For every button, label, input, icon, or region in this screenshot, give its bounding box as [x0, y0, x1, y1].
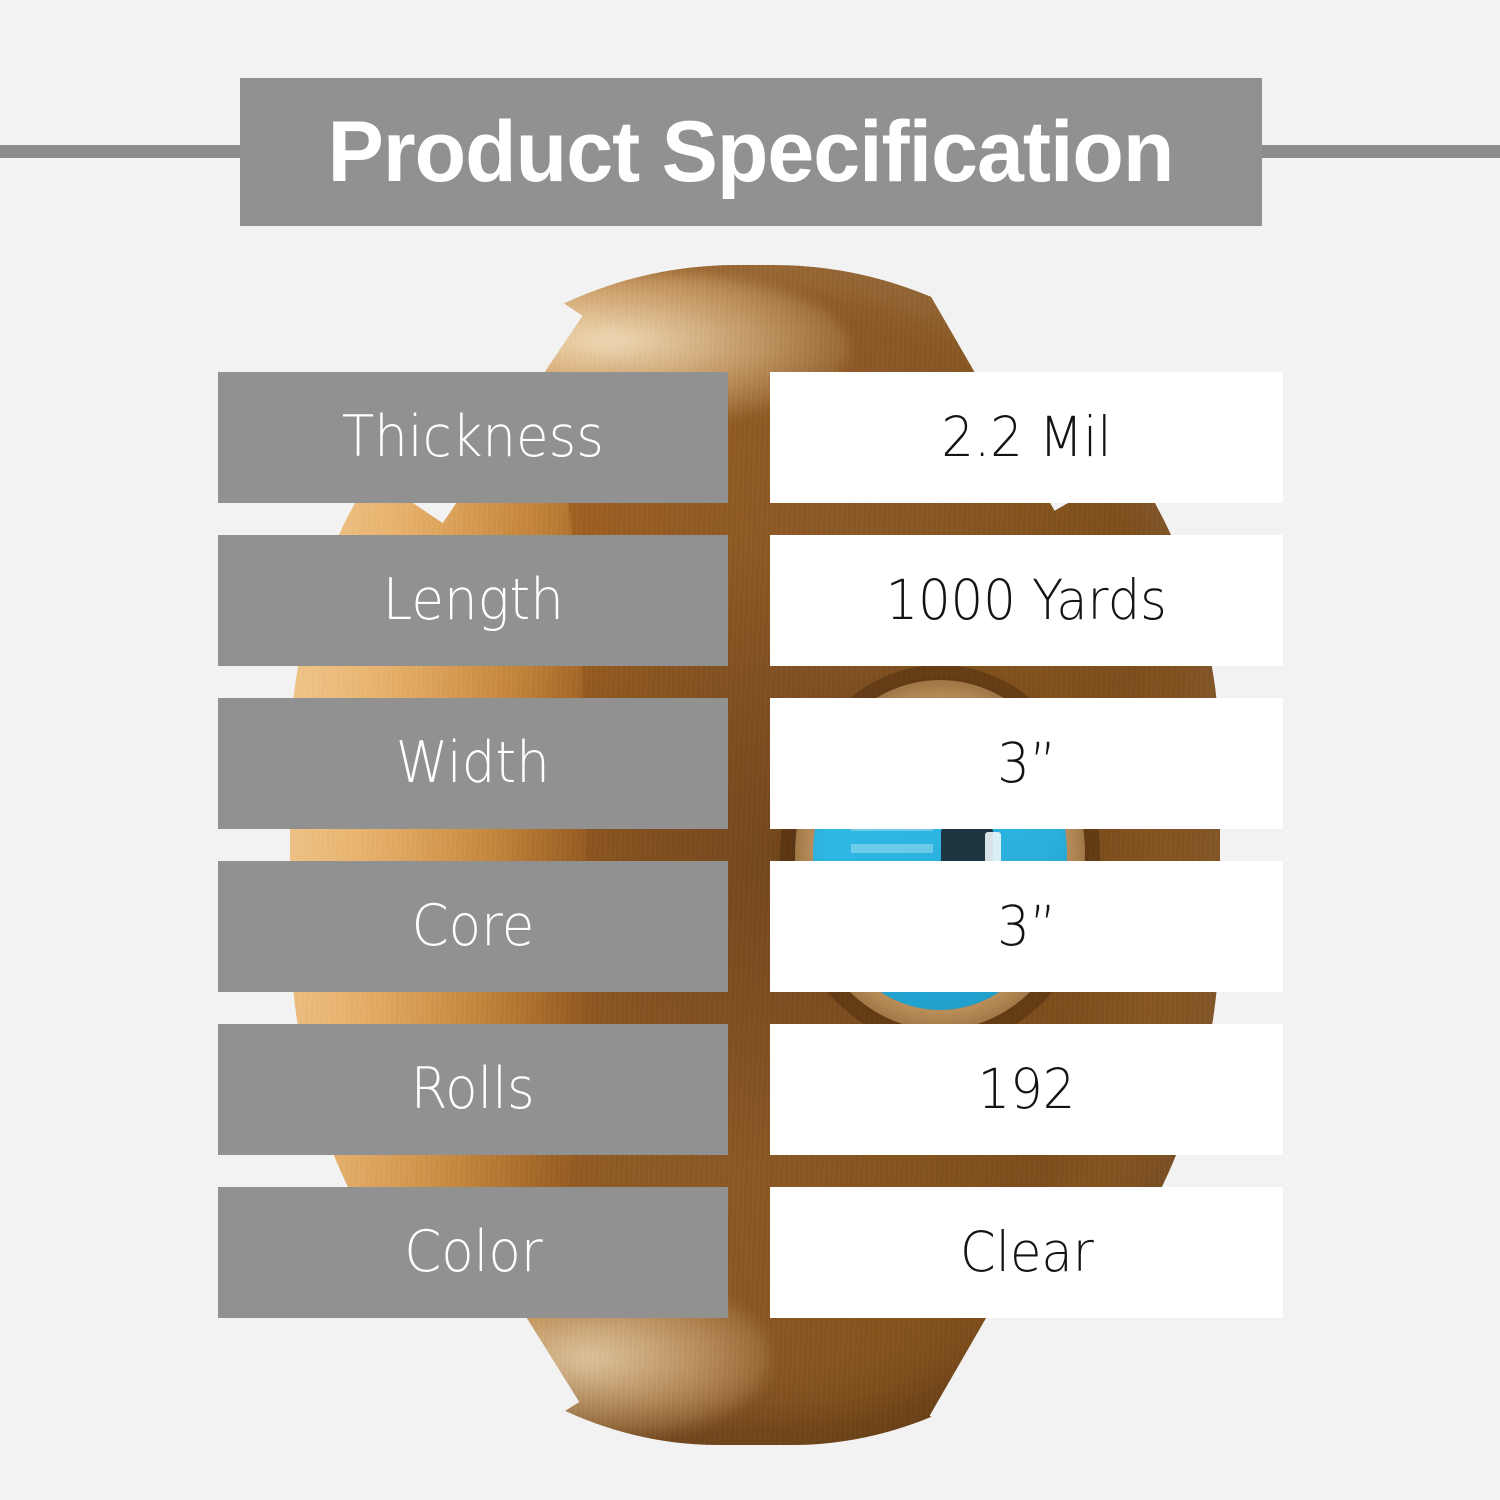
spec-value-width: 3”	[770, 698, 1283, 829]
spec-value-length: 1000 Yards	[770, 535, 1283, 666]
spec-table: Thickness 2.2 Mil Length 1000 Yards Widt…	[0, 0, 1500, 1500]
spec-label-text: Length	[382, 572, 563, 629]
spec-label-rolls: Rolls	[218, 1024, 728, 1155]
spec-label-text: Color	[404, 1224, 542, 1281]
spec-label-text: Core	[412, 898, 535, 955]
spec-label-text: Thickness	[342, 409, 604, 466]
spec-value-text: Clear	[960, 1225, 1094, 1280]
table-row: Thickness 2.2 Mil	[0, 372, 1500, 503]
spec-value-text: 1000 Yards	[886, 573, 1167, 628]
table-row: Color Clear	[0, 1187, 1500, 1318]
spec-value-text: 2.2 Mil	[941, 410, 1111, 465]
spec-value-core: 3”	[770, 861, 1283, 992]
table-row: Core 3”	[0, 861, 1500, 992]
spec-value-text: 192	[978, 1062, 1076, 1117]
spec-value-text: 3”	[997, 736, 1056, 791]
spec-label-text: Width	[396, 735, 550, 792]
spec-label-core: Core	[218, 861, 728, 992]
spec-label-thickness: Thickness	[218, 372, 728, 503]
spec-label-length: Length	[218, 535, 728, 666]
spec-value-thickness: 2.2 Mil	[770, 372, 1283, 503]
spec-label-color: Color	[218, 1187, 728, 1318]
table-row: Length 1000 Yards	[0, 535, 1500, 666]
spec-label-width: Width	[218, 698, 728, 829]
product-specification-page: Product Specification Thickness 2.2 Mil …	[0, 0, 1500, 1500]
table-row: Rolls 192	[0, 1024, 1500, 1155]
spec-value-color: Clear	[770, 1187, 1283, 1318]
table-row: Width 3”	[0, 698, 1500, 829]
spec-value-rolls: 192	[770, 1024, 1283, 1155]
spec-label-text: Rolls	[411, 1061, 535, 1118]
spec-value-text: 3”	[997, 899, 1056, 954]
